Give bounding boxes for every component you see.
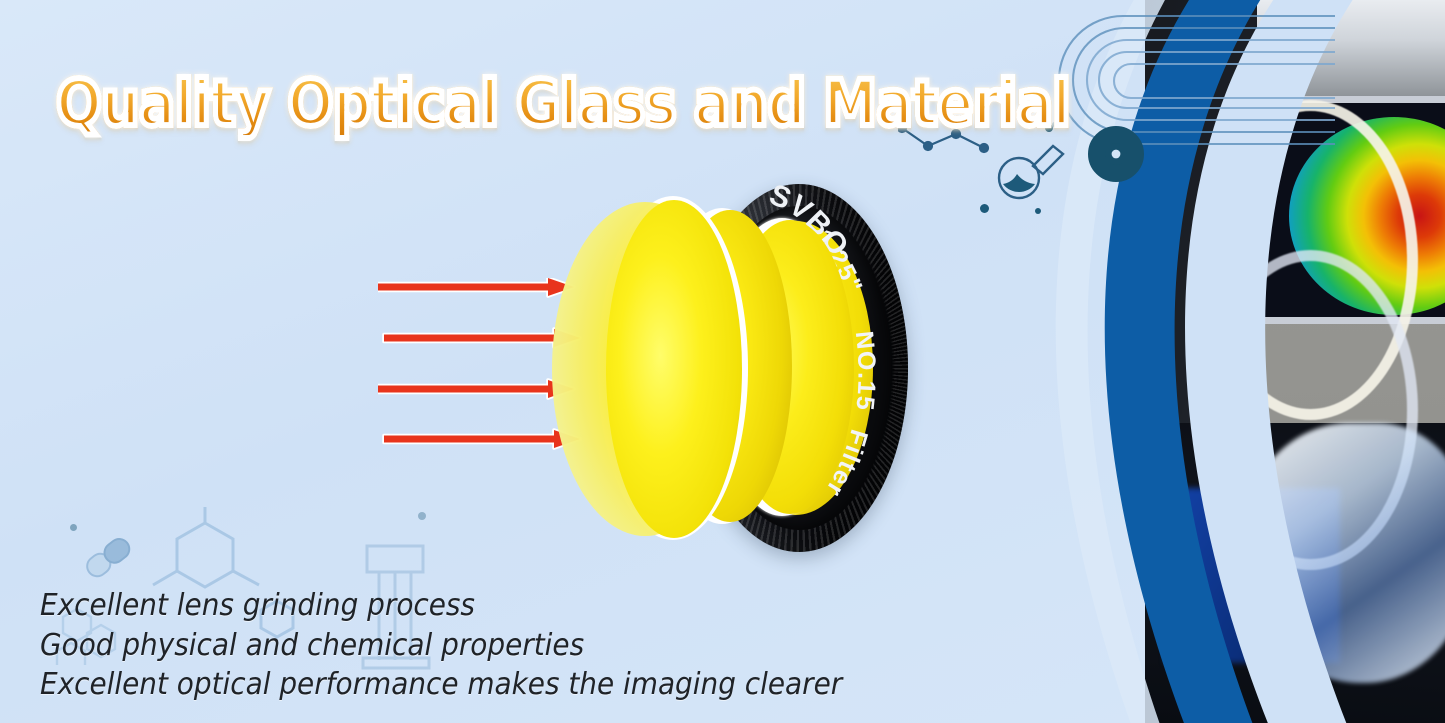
feature-list: Excellent lens grinding process Good phy…	[40, 586, 940, 705]
decor-dot	[418, 512, 426, 520]
arc-light-band	[1185, 0, 1418, 723]
page-title: Quality Optical Glass and Material	[56, 72, 1070, 135]
product-feature-banner: optical testing lab with interferometer …	[0, 0, 1445, 723]
glass-disc-front-core	[606, 200, 742, 538]
decor-dot	[70, 524, 77, 531]
decor-dot	[980, 204, 989, 213]
feature-line: Good physical and chemical properties	[40, 626, 877, 666]
capsule-icon	[78, 534, 140, 580]
feature-line: Excellent optical performance makes the …	[40, 665, 877, 705]
blue-arc-graphic	[1010, 0, 1445, 723]
filter-product-illustration: SVBONY 1.25" NO.15 Filter	[540, 178, 960, 578]
feature-line: Excellent lens grinding process	[40, 586, 877, 626]
ring-model-text: NO.15	[850, 330, 881, 413]
